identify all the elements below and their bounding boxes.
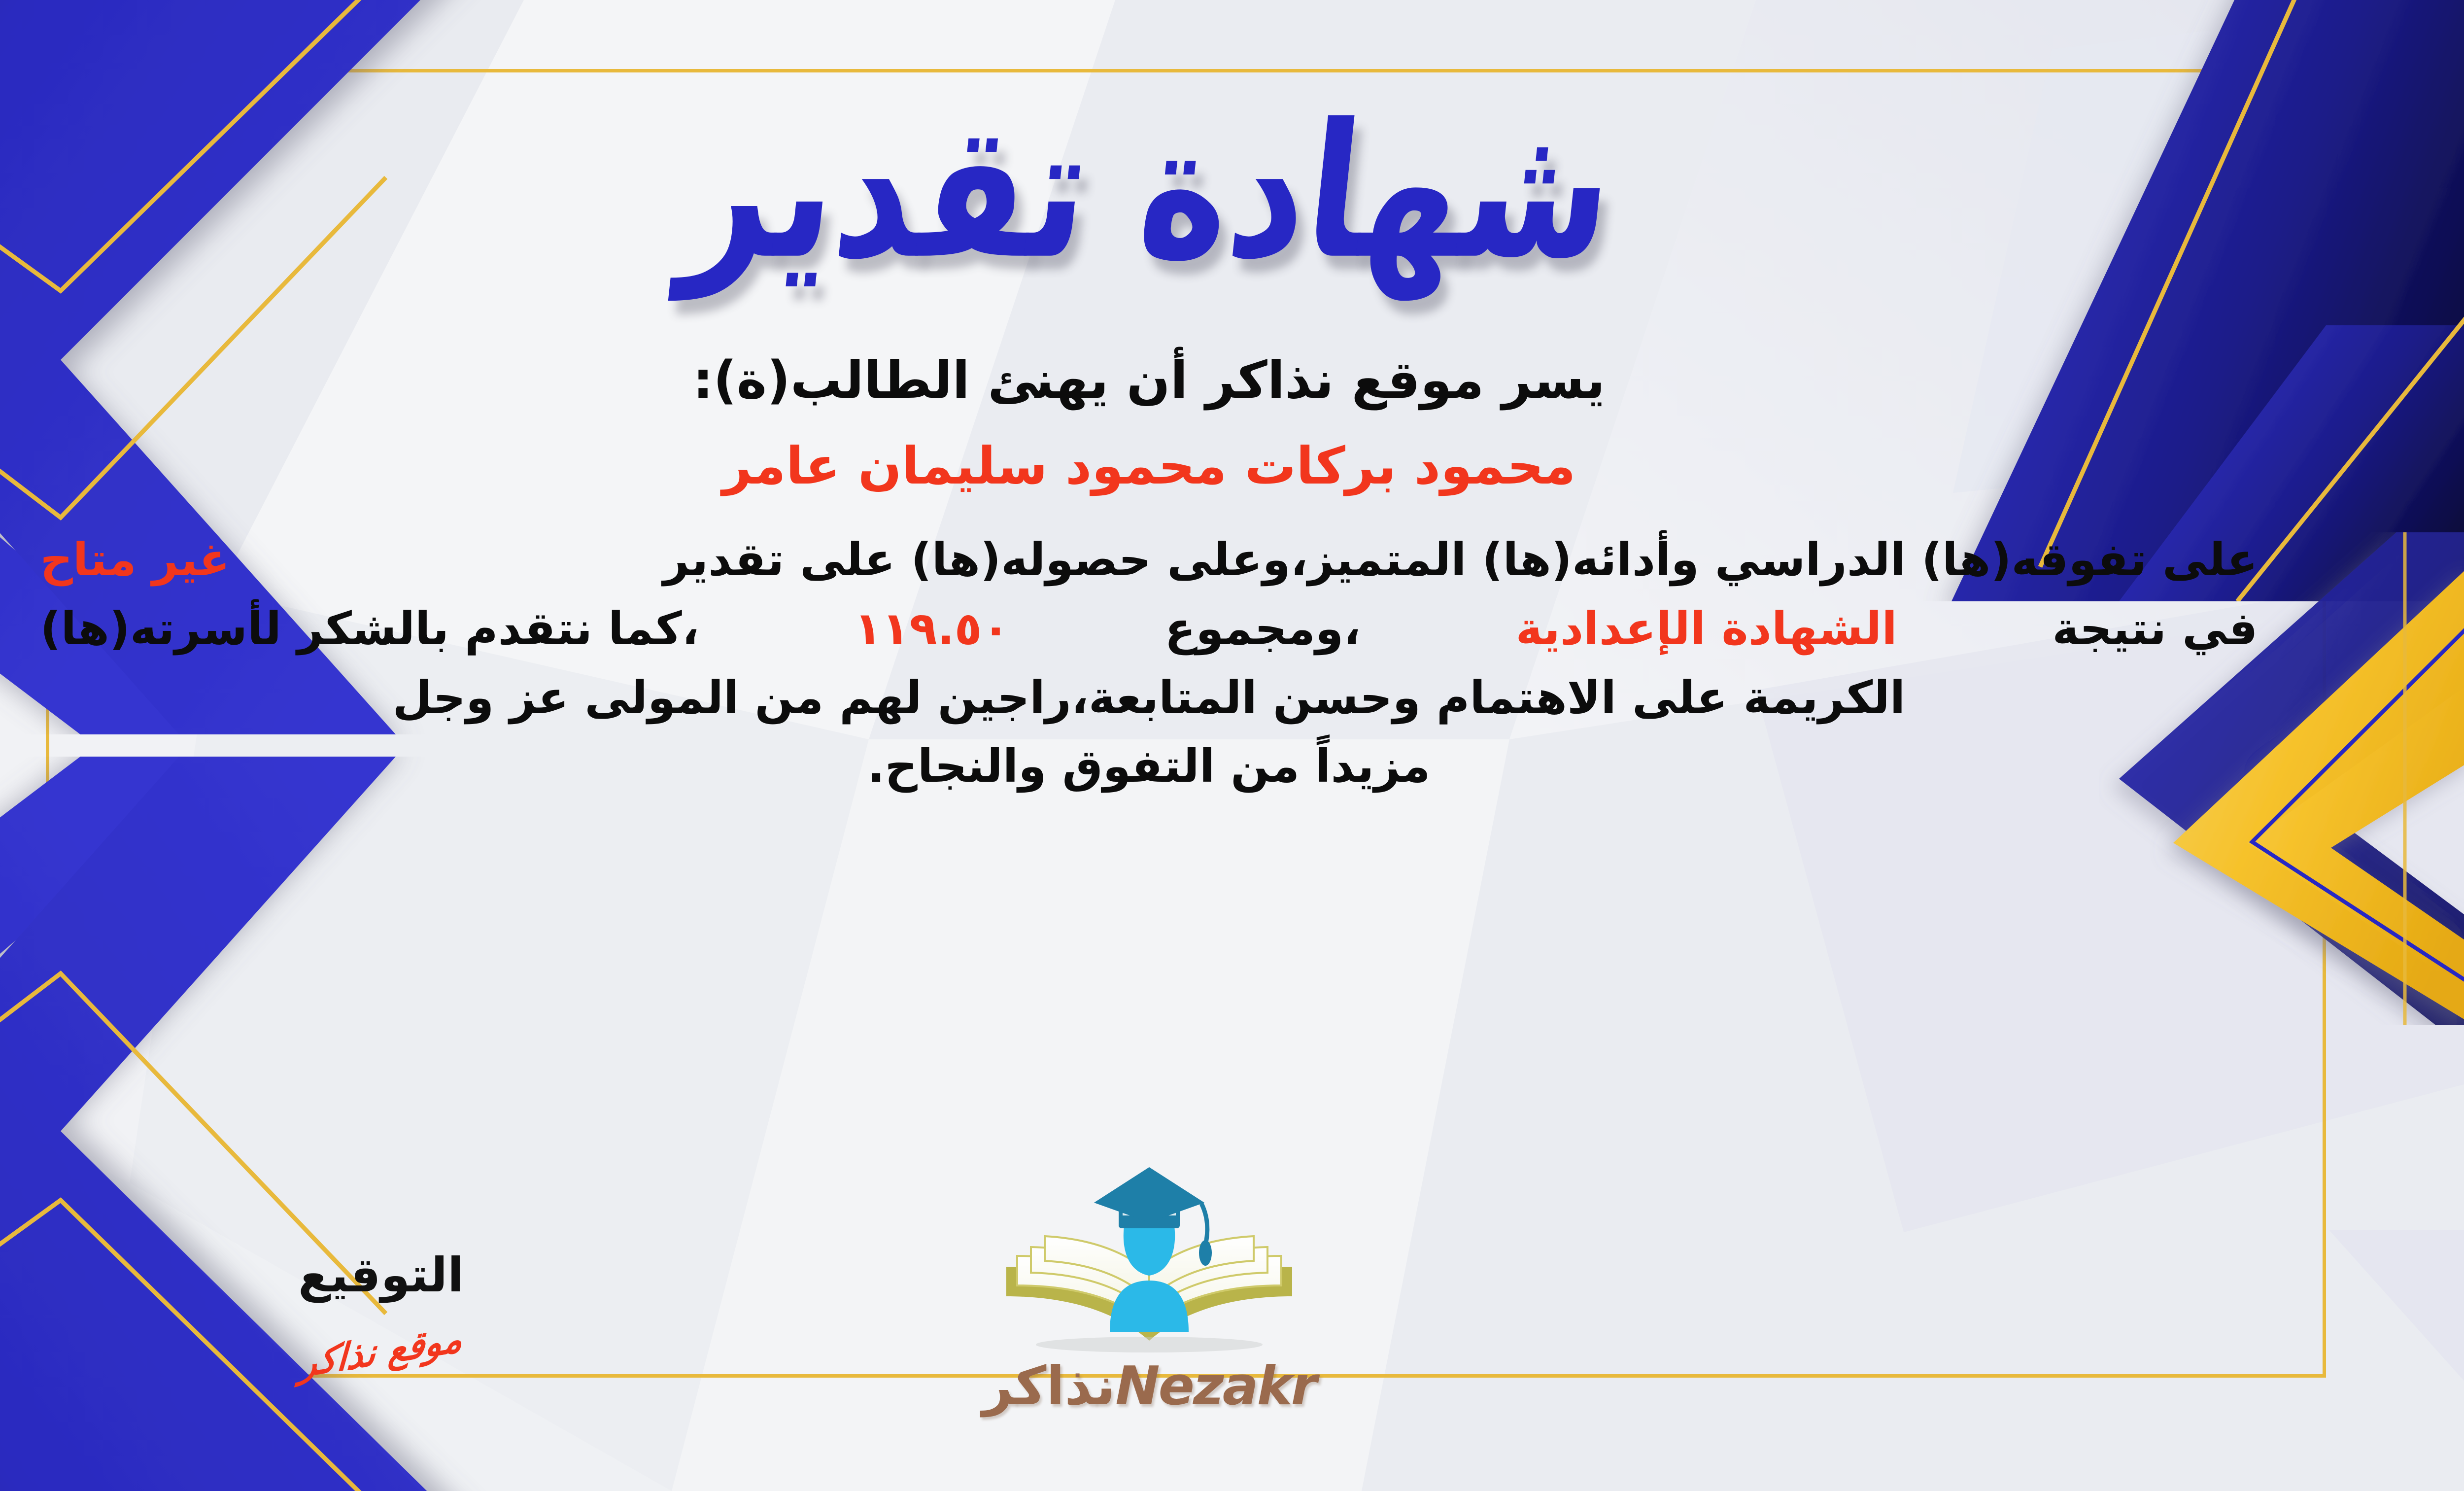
citation-line-1-text: على تفوقه(ها) الدراسي وأدائه(ها) المتميز…	[663, 525, 2258, 594]
graduate-book-logo-icon	[962, 1148, 1336, 1360]
certificate-page: شهادة تقدير يسر موقع نذاكر أن يهنئ الطال…	[0, 0, 2464, 1491]
total-score: ١١٩.٥٠	[836, 594, 1027, 663]
citation-line-4: مزيداً من التفوق والنجاح.	[40, 732, 2258, 801]
brand-wordmark-latin: Nezakr	[1115, 1355, 1315, 1417]
citation-line-2-mid: ،ومجموع	[1164, 594, 1361, 663]
citation-line-3: الكريمة على الاهتمام وحسن المتابعة،راجين…	[40, 663, 2258, 732]
page-title: شهادة تقدير	[676, 100, 1622, 285]
certificate-title-wrap: شهادة تقدير	[110, 94, 2188, 291]
brand-logo: Nezakrنذاكر	[0, 1148, 2464, 1417]
brand-wordmark-arabic: نذاكر	[982, 1355, 1115, 1417]
brand-wordmark: Nezakrنذاكر	[982, 1355, 1315, 1417]
lead-line: يسر موقع نذاكر أن يهنئ الطالب(ة):	[693, 350, 1605, 410]
citation-line-2-suffix: ،كما نتقدم بالشكر لأسرته(ها)	[40, 594, 699, 663]
student-name: محمود بركات محمود سليمان عامر	[722, 436, 1576, 496]
citation-line-2: في نتيجة الشهادة الإعدادية ،ومجموع ١١٩.٥…	[40, 594, 2258, 663]
citation-line-1: على تفوقه(ها) الدراسي وأدائه(ها) المتميز…	[40, 525, 2258, 594]
grade-value: غير متاح	[40, 525, 230, 594]
exam-name: الشهادة الإعدادية	[1498, 594, 1915, 663]
citation-line-2-prefix: في نتيجة	[2052, 594, 2258, 663]
citation-paragraph: على تفوقه(ها) الدراسي وأدائه(ها) المتميز…	[40, 525, 2258, 801]
